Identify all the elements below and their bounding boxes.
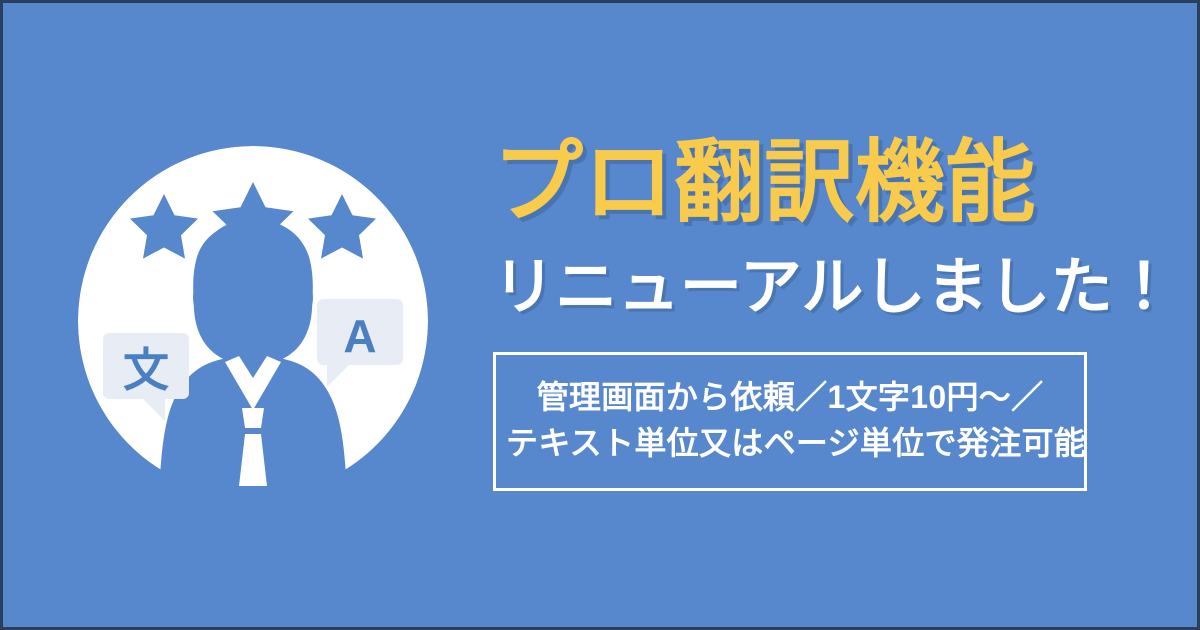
tie-knot-shape — [242, 408, 264, 428]
note-line-1: 管理画面から依頼／1文字10円〜／ — [506, 375, 1074, 420]
promo-banner: 文 A プロ翻訳機能 リニューアルしました！ 管理画面から依頼／1文字10円〜／… — [0, 0, 1200, 630]
illustration-svg: 文 A — [75, 143, 431, 499]
copy-column: プロ翻訳機能 リニューアルしました！ 管理画面から依頼／1文字10円〜／ テキス… — [493, 135, 1089, 491]
note-box: 管理画面から依頼／1文字10円〜／ テキスト単位又はページ単位で発注可能 — [493, 352, 1087, 491]
bubble-left-glyph: 文 — [123, 343, 169, 397]
bubble-right-glyph: A — [343, 310, 376, 362]
note-line-2: テキスト単位又はページ単位で発注可能 — [506, 421, 1074, 466]
translation-illustration: 文 A — [75, 143, 431, 499]
subheadline: リニューアルしました！ — [493, 254, 1089, 322]
headline: プロ翻訳機能 — [493, 135, 1089, 232]
